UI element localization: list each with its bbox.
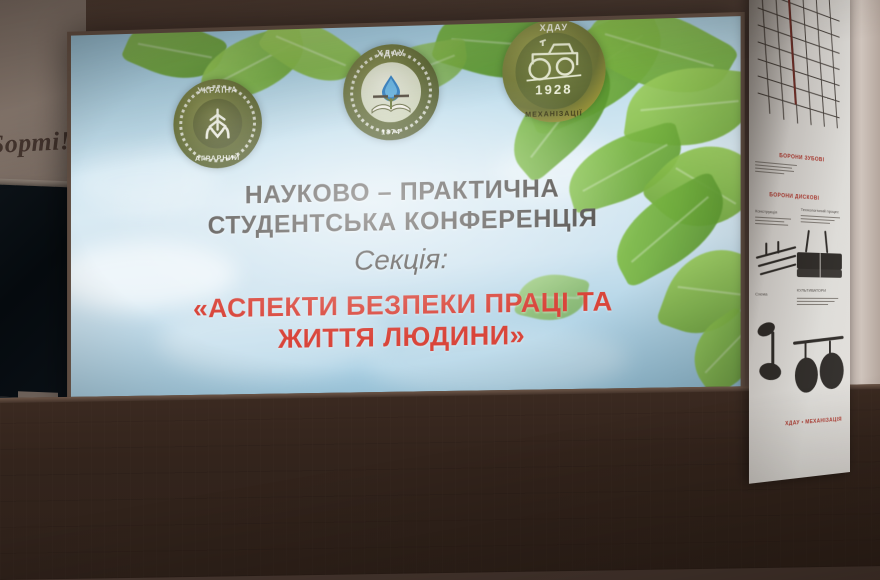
wall-script-text: Sорті!	[0, 126, 73, 170]
emblem-bottom-text: АГРАРНИЙ	[173, 154, 262, 163]
emblem-agrarian-university: УКРАЇНА АГРАРНИЙ	[173, 78, 262, 170]
emblem-bottom-text: 1874	[343, 128, 439, 137]
poster-shading	[749, 0, 850, 484]
projection-screen: УКРАЇНА АГРАРНИЙ ХДАУ 1874	[67, 12, 745, 416]
conference-slide: УКРАЇНА АГРАРНИЙ ХДАУ 1874	[71, 16, 741, 412]
emblem-year-text: 1928	[502, 81, 605, 99]
photo-scene: Sорті!	[0, 0, 880, 580]
water-drop-and-book-icon	[364, 65, 418, 120]
agricultural-machinery-wall-poster: БОРОНИ ЗУБОВІ БОРОНИ ДИСКОВІ Конструкція…	[749, 0, 850, 484]
emblem-hdau-faculty: ХДАУ 1874	[343, 43, 439, 141]
emblem-top-text: УКРАЇНА	[173, 85, 262, 96]
tree-in-hands-icon	[198, 103, 237, 144]
emblem-top-text: ХДАУ	[343, 47, 439, 60]
